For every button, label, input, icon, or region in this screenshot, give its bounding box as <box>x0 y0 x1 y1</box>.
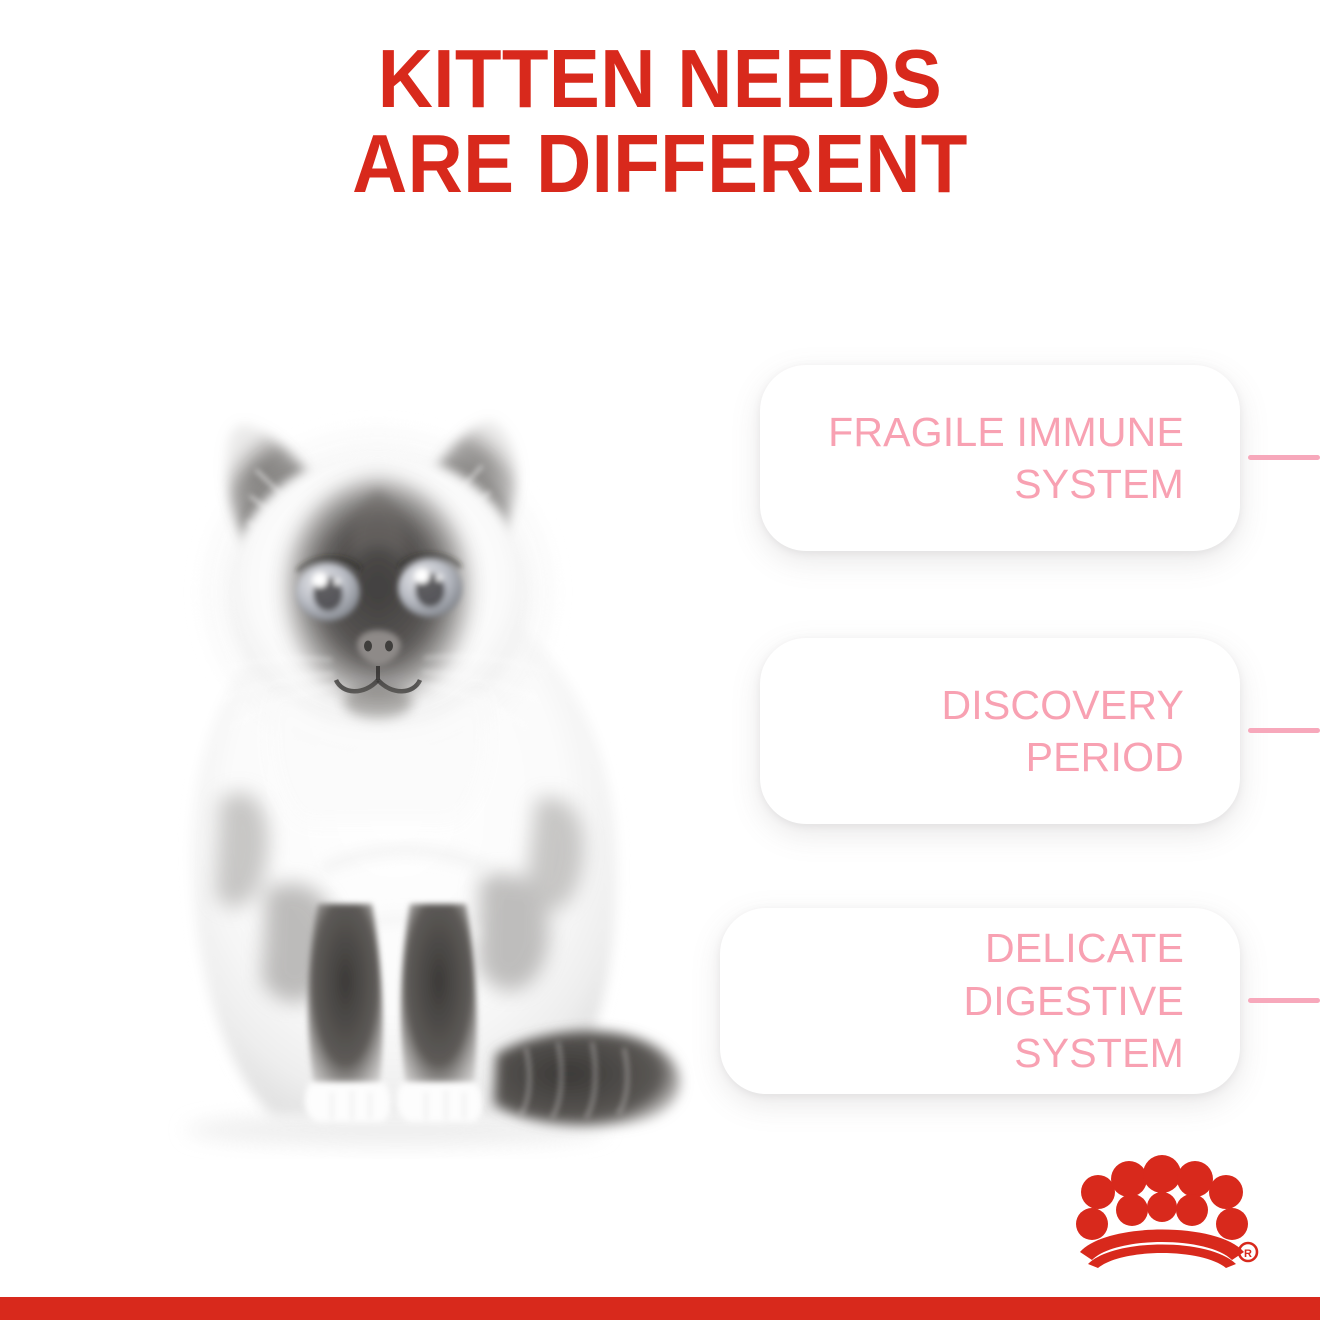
connector-line-3 <box>1248 998 1320 1003</box>
page-title: KITTEN NEEDS ARE DIFFERENT <box>0 36 1320 207</box>
callout-label-fragile-immune-system: FRAGILE IMMUNE SYSTEM <box>828 406 1184 511</box>
connector-line-2 <box>1248 728 1320 733</box>
royal-canin-crown-icon: R <box>1062 1152 1262 1268</box>
poster-canvas: KITTEN NEEDS ARE DIFFERENT <box>0 0 1320 1320</box>
callout-label-discovery-period: DISCOVERY PERIOD <box>941 679 1184 784</box>
title-line-2: ARE DIFFERENT <box>53 121 1267 206</box>
callout-card-fragile-immune-system[interactable]: FRAGILE IMMUNE SYSTEM <box>760 365 1240 551</box>
kitten-photo <box>96 330 736 1160</box>
callout-card-discovery-period[interactable]: DISCOVERY PERIOD <box>760 638 1240 824</box>
connector-line-1 <box>1248 455 1320 460</box>
callout-card-delicate-digestive-system[interactable]: DELICATE DIGESTIVE SYSTEM <box>720 908 1240 1094</box>
bottom-accent-bar <box>0 1297 1320 1320</box>
title-line-1: KITTEN NEEDS <box>53 36 1267 121</box>
callout-label-delicate-digestive-system: DELICATE DIGESTIVE SYSTEM <box>760 922 1184 1079</box>
svg-text:R: R <box>1244 1248 1252 1260</box>
